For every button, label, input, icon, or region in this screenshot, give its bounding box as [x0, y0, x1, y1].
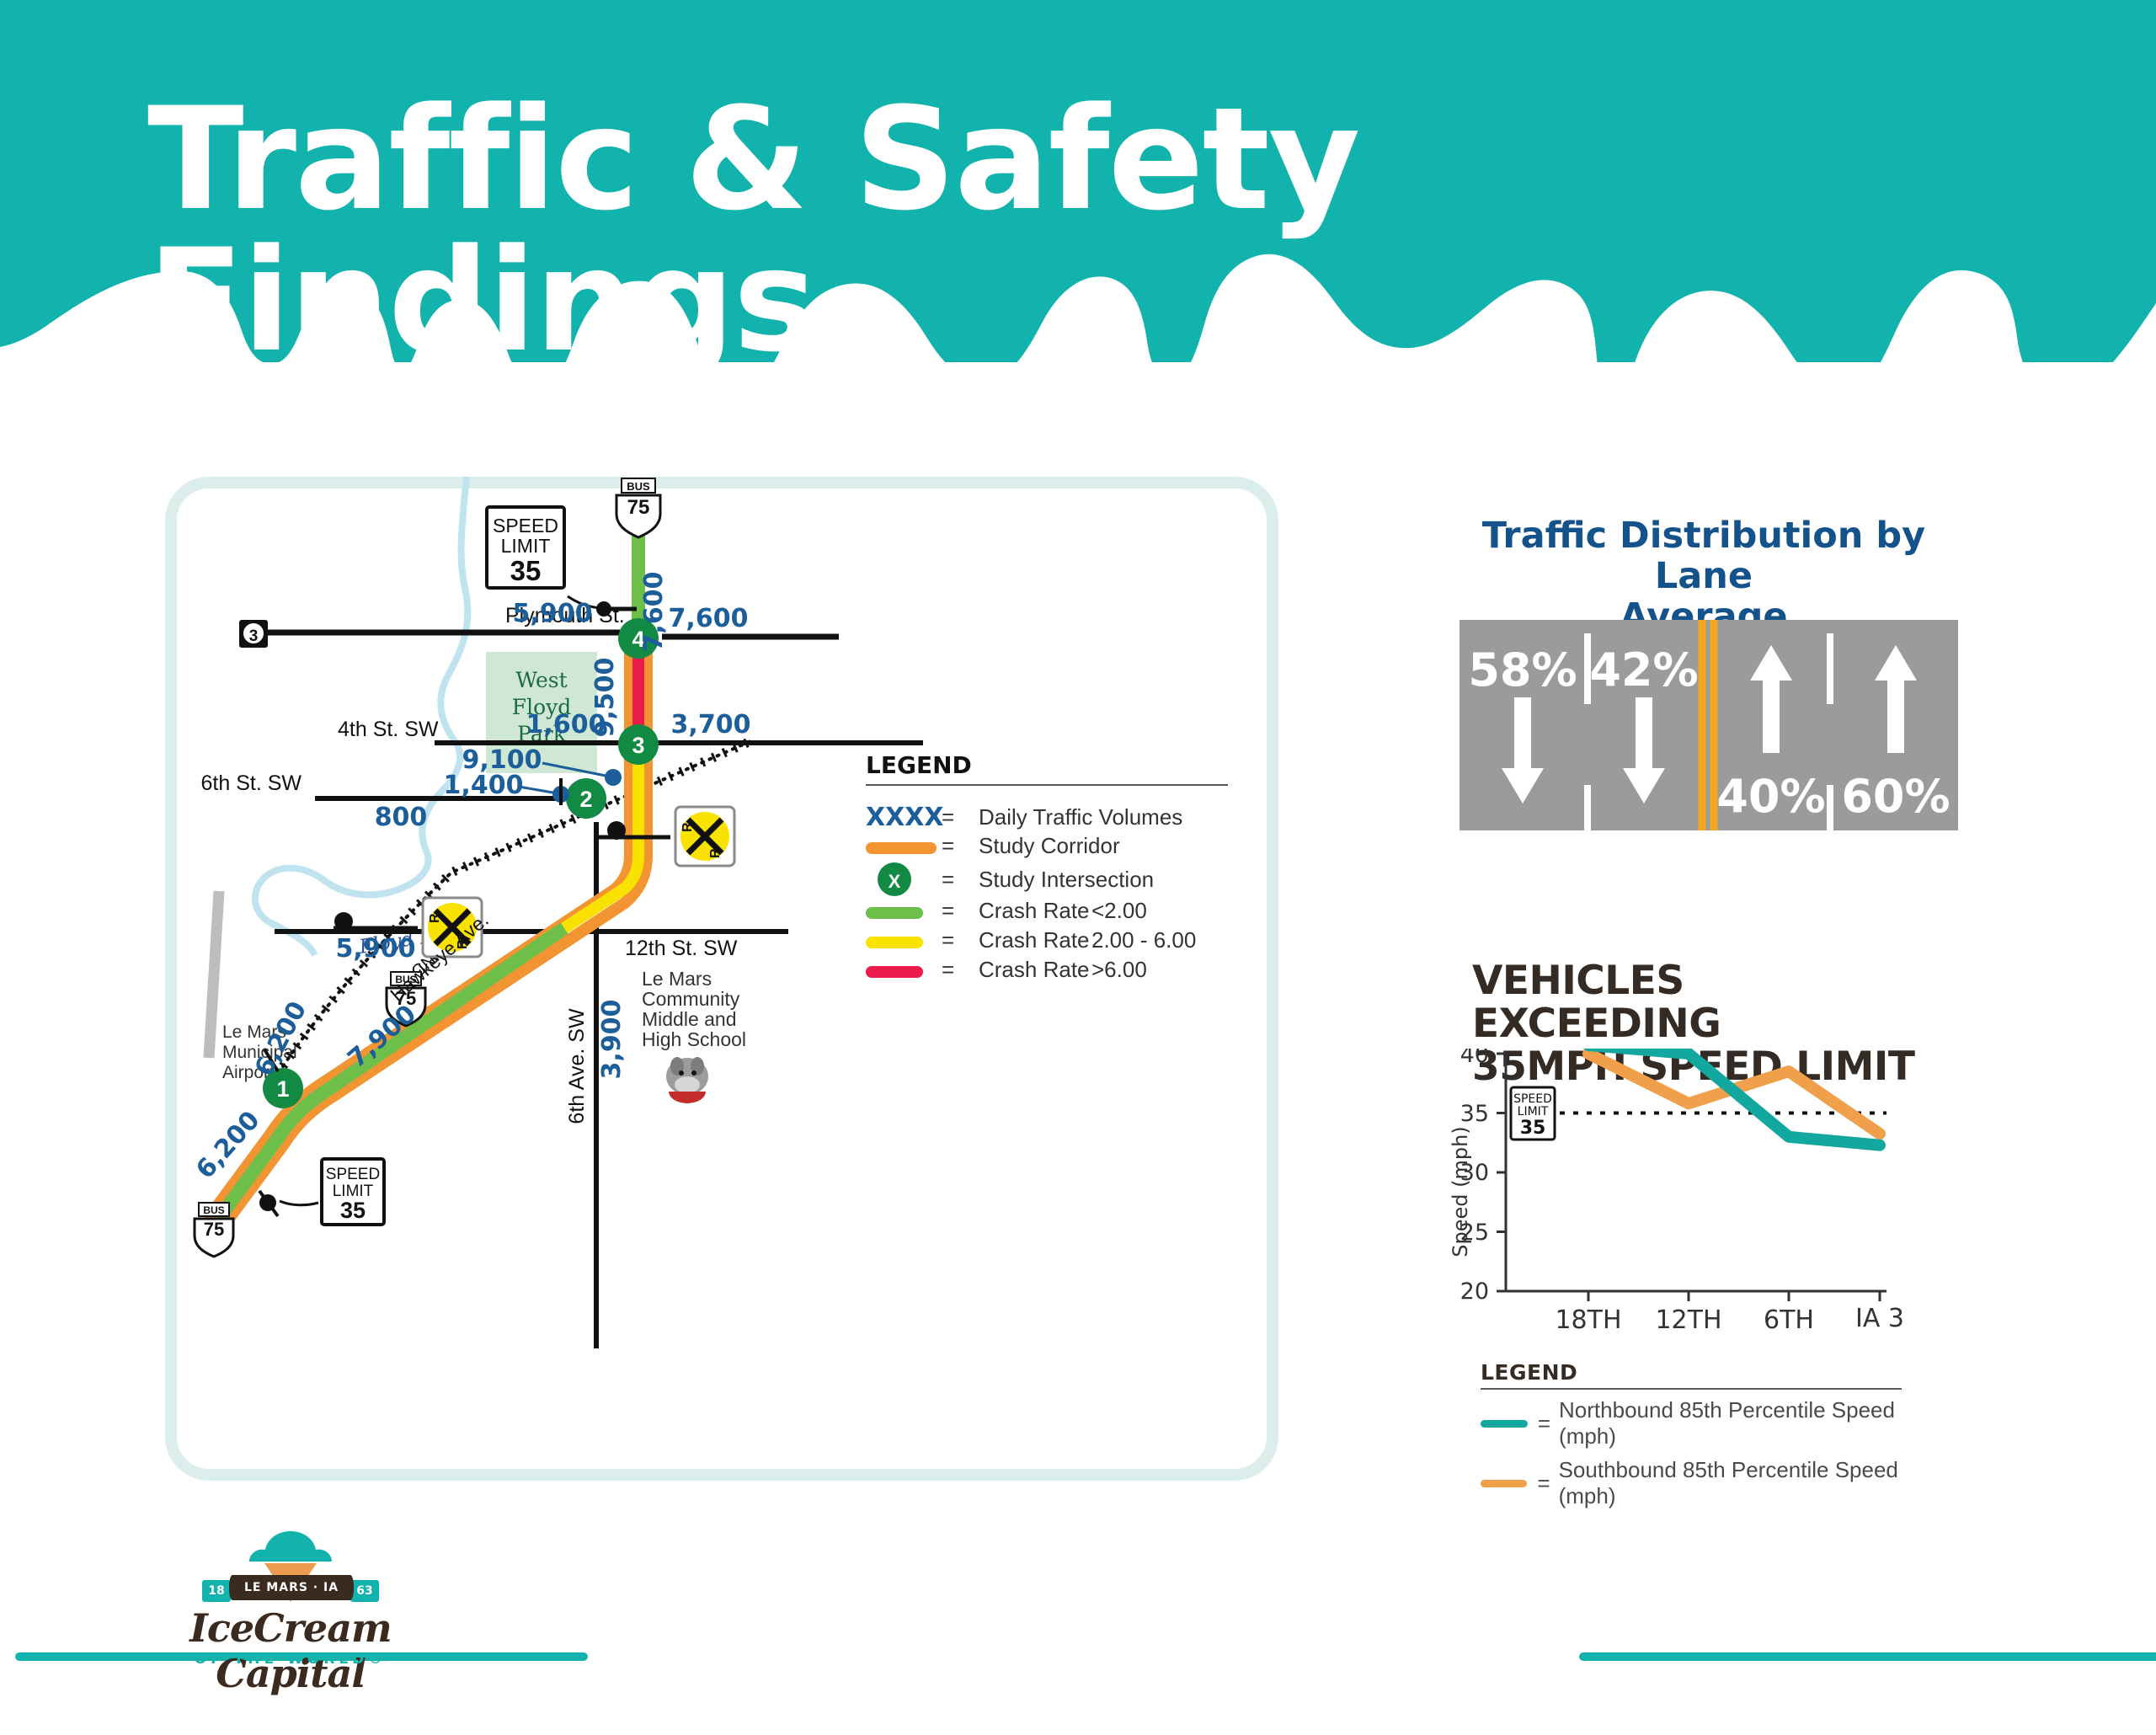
svg-text:LIMIT: LIMIT	[501, 535, 551, 557]
y-axis-label: Speed (mph)	[1449, 1126, 1472, 1257]
legend-label: Crash Rate	[979, 898, 1090, 923]
y-tick-marks	[1497, 1054, 1506, 1291]
legend-value: <2.00	[1091, 898, 1147, 923]
svg-text:75: 75	[204, 1219, 224, 1240]
legend-swatch-intersection: X	[878, 862, 911, 896]
legend-key-xxxx: XXXX	[866, 803, 944, 832]
svg-text:=: =	[942, 927, 954, 953]
legend-label: Daily Traffic Volumes	[979, 804, 1182, 830]
svg-text:R: R	[680, 822, 695, 832]
volume-label: 3,900	[597, 1000, 627, 1080]
lane-pct-40: 40%	[1716, 770, 1825, 823]
logo-sub-text: OF THE WORLD®	[168, 1651, 413, 1668]
page-title: Traffic & Safety Findings	[147, 88, 2051, 371]
study-intersection-3[interactable]: 3	[618, 724, 659, 765]
x-tick: 12TH	[1655, 1305, 1721, 1335]
southbound-label: Southbound 85th Percentile Speed (mph)	[1559, 1457, 1919, 1509]
svg-text:=: =	[942, 833, 954, 858]
12th-st-sw-label: 12th St. SW	[625, 937, 738, 960]
lane-distribution-graphic: 58% 42% 40% 60%	[1460, 620, 1958, 830]
svg-text:LIMIT: LIMIT	[1518, 1105, 1549, 1118]
corridor-map[interactable]: Floyd River West Floyd Park Le Mars Muni…	[165, 477, 1278, 1481]
route-shield-ia3: 3	[239, 620, 268, 648]
speed-line-chart[interactable]: 20 25 30 35 40 Speed (mph) 18TH 12TH 6TH…	[1449, 1049, 1971, 1360]
x-tick-labels: 18TH 12TH 6TH IA 3	[1555, 1304, 1904, 1335]
legend-swatch-corridor	[866, 842, 937, 854]
svg-text:X: X	[889, 871, 901, 892]
volume-label: 7,600	[639, 572, 669, 652]
route-shield-us75-bus-north: BUS 75	[616, 478, 660, 537]
svg-text:2: 2	[579, 787, 592, 812]
volume-label: 5,900	[336, 934, 416, 964]
school-label-3: Middle and	[642, 1008, 737, 1030]
svg-text:BUS: BUS	[203, 1204, 224, 1216]
lane-pct-42: 42%	[1589, 643, 1698, 697]
svg-text:=: =	[942, 898, 954, 923]
school-label-2: Community	[642, 988, 740, 1010]
volume-label: 5,900	[513, 599, 593, 628]
speed-legend-row-northbound: = Northbound 85th Percentile Speed (mph)	[1481, 1397, 1919, 1449]
svg-text:3: 3	[249, 627, 259, 645]
svg-text:SPEED: SPEED	[493, 515, 558, 537]
svg-text:3: 3	[632, 733, 644, 758]
legend-swatch-red	[866, 966, 923, 978]
route-shield-us75-bus-south: BUS 75	[195, 1203, 233, 1257]
plymouth-st-line	[249, 633, 638, 643]
6th-st-sw-label: 6th St. SW	[201, 771, 302, 795]
speed-legend-row-southbound: = Southbound 85th Percentile Speed (mph)	[1481, 1457, 1919, 1509]
svg-text:R: R	[428, 913, 442, 923]
footer-rule-right	[1579, 1652, 2156, 1661]
svg-text:35: 35	[340, 1198, 366, 1223]
speed-limit-sign-chart: SPEED LIMIT 35	[1511, 1087, 1555, 1140]
legend-swatch-green	[866, 907, 923, 919]
map-legend: LEGEND XXXX = Daily Traffic Volumes = St…	[866, 751, 1228, 982]
x-tick: IA 3	[1855, 1304, 1904, 1333]
volume-label: 800	[375, 803, 428, 832]
x-tick: 18TH	[1555, 1305, 1621, 1335]
legend-label: Crash Rate	[979, 927, 1090, 953]
equals-sign: =	[1537, 1471, 1550, 1497]
svg-text:35: 35	[510, 555, 542, 586]
le-mars-municipal-airport-runway	[209, 891, 219, 1058]
school-label-4: High School	[642, 1028, 746, 1050]
lane-title-line1: Traffic Distribution by Lane	[1482, 515, 1925, 597]
y-tick: 40	[1460, 1049, 1489, 1068]
logo-banner-text: LE MARS · IA	[229, 1575, 354, 1600]
svg-text:SPEED: SPEED	[326, 1166, 380, 1183]
header-band: Traffic & Safety Findings	[0, 0, 2156, 362]
svg-text:35: 35	[1520, 1118, 1546, 1139]
svg-text:=: =	[942, 804, 954, 830]
map-legend-title: LEGEND	[866, 751, 972, 779]
x-tick: 6TH	[1764, 1305, 1814, 1335]
legend-value: 2.00 - 6.00	[1091, 927, 1196, 953]
logo-banner: LE MARS · IA	[229, 1575, 354, 1600]
6th-ave-sw-label: 6th Ave. SW	[565, 1008, 589, 1124]
volume-label: 7,600	[669, 604, 749, 633]
logo-year-left: 18	[202, 1580, 231, 1602]
legend-value: >6.00	[1091, 957, 1147, 982]
speed-legend-title: LEGEND	[1481, 1360, 1919, 1385]
equals-sign: =	[1538, 1411, 1550, 1437]
logo-year-right: 63	[350, 1580, 379, 1602]
svg-text:75: 75	[627, 496, 650, 519]
y-tick: 35	[1460, 1101, 1489, 1127]
y-tick: 20	[1460, 1279, 1489, 1305]
ice-cream-capital-logo: 18 63 LE MARS · IA IceCream Capital OF T…	[168, 1531, 413, 1683]
svg-text:=: =	[942, 957, 954, 982]
railroad-crossing-sign-north: R R	[596, 807, 734, 866]
northbound-label: Northbound 85th Percentile Speed (mph)	[1559, 1397, 1919, 1449]
lane-panel-title: Traffic Distribution by Lane Average	[1447, 515, 1961, 637]
svg-text:1: 1	[276, 1076, 289, 1102]
bulldog-mascot-icon	[666, 1057, 708, 1103]
study-intersection-2[interactable]: 2	[566, 778, 606, 819]
lane-pct-58: 58%	[1468, 643, 1577, 697]
volume-label: 1,400	[444, 771, 524, 800]
legend-label: Study Corridor	[979, 833, 1120, 858]
west-floyd-park-label: West	[515, 668, 567, 692]
svg-text:BUS: BUS	[627, 480, 650, 493]
speed-title-line1: VEHICLES EXCEEDING	[1472, 958, 1721, 1047]
volume-label: 3,700	[671, 710, 751, 739]
school-label-1: Le Mars	[642, 968, 712, 990]
lane-pct-60: 60%	[1841, 770, 1950, 823]
speed-chart-legend: LEGEND = Northbound 85th Percentile Spee…	[1481, 1360, 1919, 1509]
volume-label: 1,600	[526, 710, 606, 739]
4th-st-sw-label: 4th St. SW	[338, 718, 439, 741]
svg-text:R: R	[708, 848, 723, 858]
speed-limit-sign-south: SPEED LIMIT 35	[259, 1159, 384, 1225]
speed-legend-rule	[1481, 1388, 1902, 1390]
svg-text:=: =	[942, 867, 954, 892]
legend-label: Crash Rate	[979, 957, 1090, 982]
legend-label: Study Intersection	[979, 867, 1154, 892]
volume-leader-1400	[519, 778, 569, 805]
svg-text:SPEED: SPEED	[1513, 1092, 1552, 1106]
southbound-swatch	[1481, 1480, 1527, 1487]
legend-swatch-yellow	[866, 937, 923, 948]
floyd-river	[255, 477, 468, 955]
northbound-swatch	[1481, 1420, 1528, 1428]
x-tick-marks	[1588, 1291, 1880, 1301]
